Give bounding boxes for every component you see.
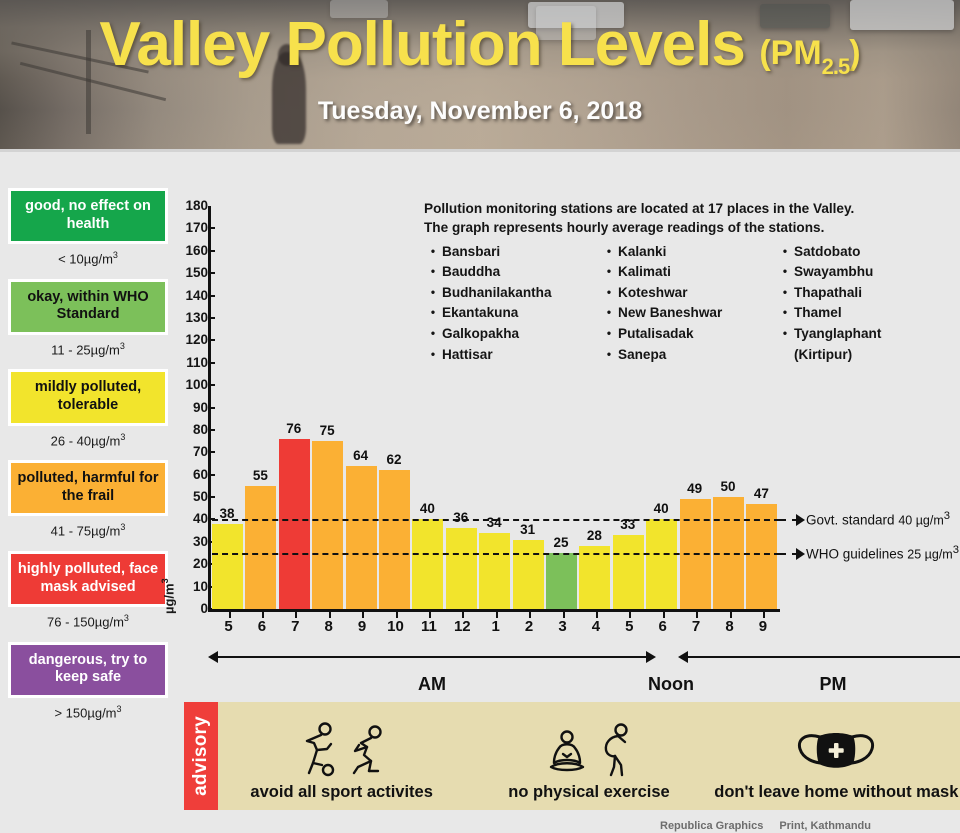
reference-label-text: Govt. standard — [806, 513, 898, 528]
x-axis-tick-label: 11 — [412, 618, 445, 635]
bar-group[interactable]: 76 — [279, 206, 312, 609]
y-axis-tick-label: 70 — [174, 445, 208, 459]
chart-bar[interactable] — [446, 528, 479, 609]
advisory-icons — [295, 717, 389, 779]
advisory-caption: don't leave home without mask — [714, 783, 958, 802]
stretching-person-icon — [594, 719, 634, 779]
reference-label-exponent: 3 — [944, 510, 950, 522]
y-axis-tick-label: 100 — [174, 378, 208, 392]
bar-value-label: 40 — [641, 501, 681, 516]
y-axis-tick-label: 40 — [174, 512, 208, 526]
plot-area: 3855767564624036343125283340495047 — [212, 206, 780, 609]
chart-bar[interactable] — [546, 553, 579, 609]
time-period-axis: AM Noon PM — [208, 642, 788, 694]
y-axis-tick-label: 170 — [174, 221, 208, 235]
y-axis-tick-label: 10 — [174, 580, 208, 594]
x-axis-tick-label: 12 — [446, 618, 479, 635]
chart-bar[interactable] — [379, 470, 412, 609]
y-axis-tick-label: 140 — [174, 289, 208, 303]
x-axis-tick-label: 6 — [646, 618, 679, 635]
x-axis-tick-label: 4 — [579, 618, 612, 635]
chart-bar[interactable] — [279, 439, 312, 609]
y-axis-tick-label: 30 — [174, 535, 208, 549]
soccer-player-icon — [295, 721, 341, 779]
title-block: Valley Pollution Levels (PM2.5) — [0, 14, 960, 76]
bar-group[interactable]: 50 — [713, 206, 746, 609]
x-axis-tick-label: 8 — [312, 618, 345, 635]
bar-group[interactable]: 47 — [746, 206, 779, 609]
bar-group[interactable]: 55 — [245, 206, 278, 609]
period-am: AM — [208, 650, 656, 664]
legend-range-exponent: 3 — [117, 704, 122, 714]
advisory-icons — [544, 717, 634, 779]
legend-range-dangerous: > 150µg/m3 — [8, 698, 168, 721]
y-axis-label-exponent: 3 — [160, 578, 170, 583]
chart-bar[interactable] — [412, 519, 445, 609]
bar-group[interactable]: 36 — [446, 206, 479, 609]
chart-bar[interactable] — [646, 519, 679, 609]
bar-group[interactable]: 75 — [312, 206, 345, 609]
y-axis-tick-label: 180 — [174, 199, 208, 213]
reference-label-text: WHO guidelines — [806, 547, 907, 562]
y-axis-tick-label: 150 — [174, 266, 208, 280]
advisory-item-mask: don't leave home without mask — [713, 702, 960, 810]
arrow-right-icon — [796, 548, 805, 560]
chart-bar[interactable] — [212, 524, 245, 609]
pm-subscript: 2.5 — [822, 54, 850, 79]
chart-bar[interactable] — [579, 546, 612, 609]
y-axis-tick-label: 50 — [174, 490, 208, 504]
chart-bar[interactable] — [312, 441, 345, 609]
x-axis-tick-label: 9 — [346, 618, 379, 635]
reference-label-exponent: 3 — [953, 544, 959, 556]
bar-value-label: 75 — [307, 423, 347, 438]
x-axis: 56789101112123456789 — [212, 612, 780, 636]
pollution-bar-chart: µg/m3 1801701601501401301201101009080706… — [0, 196, 960, 696]
y-axis-tick-label: 120 — [174, 333, 208, 347]
advisory-caption: no physical exercise — [508, 783, 669, 802]
pm-label: (PM2.5) — [759, 34, 860, 73]
y-axis-tick-label: 160 — [174, 244, 208, 258]
x-axis-tick-label: 8 — [713, 618, 746, 635]
page-title: Valley Pollution Levels — [99, 14, 744, 76]
bar-group[interactable]: 25 — [546, 206, 579, 609]
bar-value-label: 55 — [240, 468, 280, 483]
y-axis-tick-label: 20 — [174, 557, 208, 571]
reference-label-unit: 40 µg/m — [898, 514, 943, 528]
chart-bar[interactable] — [245, 486, 278, 609]
x-axis-tick-label: 6 — [245, 618, 278, 635]
pm-close: ) — [849, 34, 860, 72]
page-subtitle: Tuesday, November 6, 2018 — [0, 97, 960, 126]
advisory-items: avoid all sport activites — [218, 702, 960, 810]
y-axis-tick-label: 60 — [174, 468, 208, 482]
arrow-right-icon — [646, 651, 656, 663]
y-axis-tick-label: 0 — [174, 602, 208, 616]
bar-group[interactable]: 40 — [412, 206, 445, 609]
legend-range-text: > 150µg/m — [54, 705, 116, 720]
x-axis-tick-label: 5 — [212, 618, 245, 635]
face-mask-icon — [793, 723, 879, 779]
pm-open: (PM — [759, 34, 821, 72]
period-pm: PM — [678, 650, 960, 664]
period-label-pm: PM — [678, 674, 960, 695]
bar-value-label: 62 — [374, 452, 414, 467]
bar-group[interactable]: 64 — [346, 206, 379, 609]
y-axis-tick-label: 80 — [174, 423, 208, 437]
x-axis-tick-label: 5 — [613, 618, 646, 635]
x-axis-tick-label: 9 — [746, 618, 779, 635]
reference-line — [212, 553, 780, 555]
reference-label-unit: 25 µg/m — [907, 548, 952, 562]
advisory-item-exercise: no physical exercise — [465, 702, 712, 810]
runner-icon — [345, 721, 389, 779]
reference-line — [212, 519, 780, 521]
header-banner: Valley Pollution Levels (PM2.5) Tuesday,… — [0, 0, 960, 152]
x-axis-tick-label: 10 — [379, 618, 412, 635]
reference-line-label: WHO guidelines 25 µg/m3 — [806, 544, 959, 562]
x-axis-tick-label: 3 — [546, 618, 579, 635]
bar-group[interactable]: 40 — [646, 206, 679, 609]
advisory-tab-label: advisory — [190, 716, 212, 796]
header-divider — [0, 149, 960, 152]
chart-bar[interactable] — [613, 535, 646, 609]
x-axis-tick-label: 7 — [279, 618, 312, 635]
bar-group[interactable]: 62 — [379, 206, 412, 609]
period-label-am: AM — [208, 674, 656, 695]
advisory-item-sports: avoid all sport activites — [218, 702, 465, 810]
y-axis-tick-label: 110 — [174, 356, 208, 370]
chart-bar[interactable] — [479, 533, 512, 609]
bar-group[interactable]: 28 — [579, 206, 612, 609]
x-axis-tick-label: 1 — [479, 618, 512, 635]
bar-group[interactable]: 33 — [613, 206, 646, 609]
advisory-caption: avoid all sport activites — [250, 783, 432, 802]
y-axis-line — [208, 206, 211, 611]
y-axis-tick-label: 90 — [174, 401, 208, 415]
advisory-panel: advisory — [184, 702, 960, 810]
bar-group[interactable]: 49 — [680, 206, 713, 609]
meditating-person-icon — [544, 721, 590, 779]
credit-graphics: Republica Graphics — [660, 820, 763, 832]
bar-group[interactable]: 34 — [479, 206, 512, 609]
x-axis-tick-label: 2 — [513, 618, 546, 635]
arrow-right-icon — [796, 514, 805, 526]
bar-group[interactable]: 38 — [212, 206, 245, 609]
period-line — [217, 656, 647, 658]
y-axis-tick-labels: 1801701601501401301201101009080706050403… — [172, 196, 208, 616]
period-line — [687, 656, 960, 658]
chart-bar[interactable] — [346, 466, 379, 609]
advisory-icons — [793, 717, 879, 779]
y-axis-tick-label: 130 — [174, 311, 208, 325]
advisory-tab: advisory — [184, 702, 218, 810]
credit-line: Republica GraphicsPrint, Kathmandu — [660, 820, 871, 832]
credit-location: Print, Kathmandu — [779, 820, 871, 832]
bar-value-label: 47 — [741, 486, 781, 501]
x-axis-tick-label: 7 — [680, 618, 713, 635]
reference-line-label: Govt. standard 40 µg/m3 — [806, 510, 950, 528]
